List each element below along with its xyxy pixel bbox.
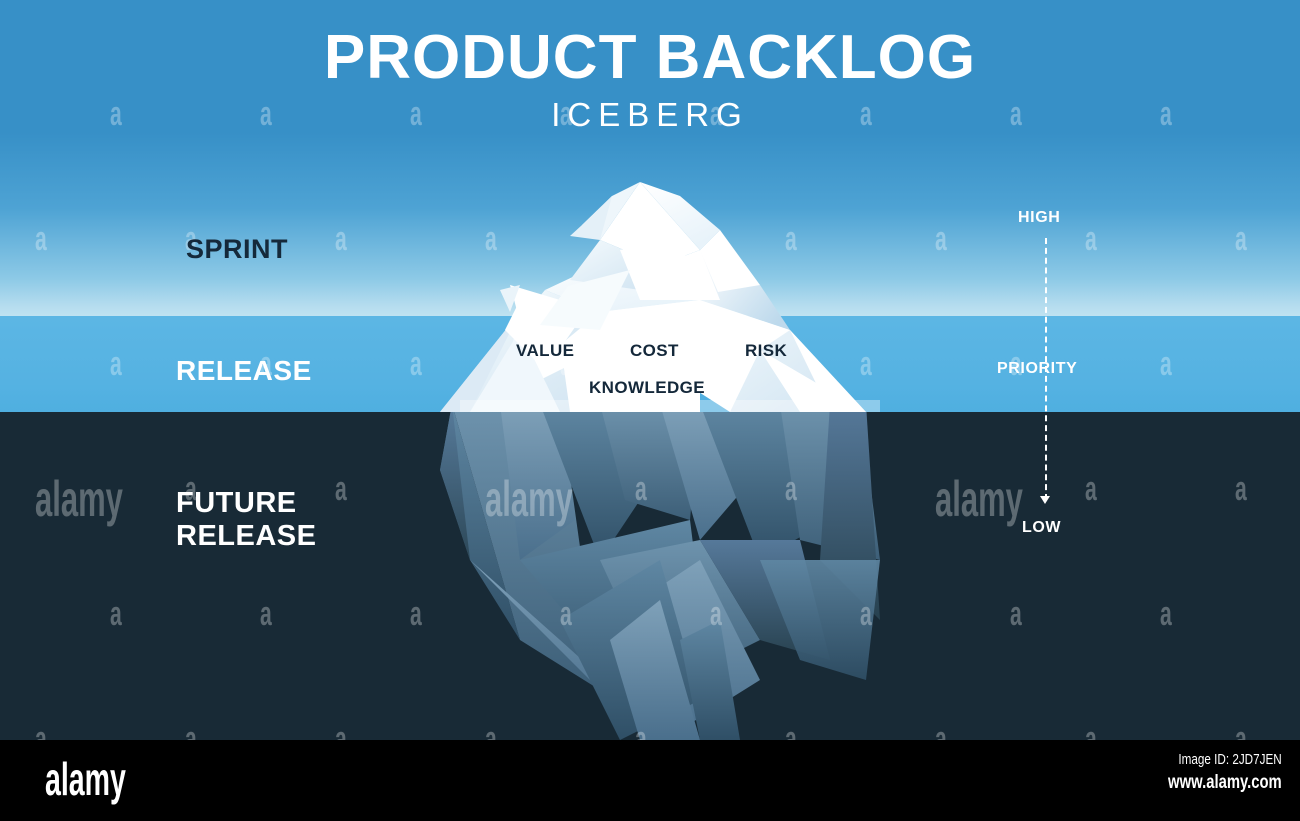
priority-axis-label: PRIORITY	[997, 360, 1077, 378]
footer-background-band	[0, 740, 1300, 821]
iceberg-label-cost: COST	[630, 341, 679, 361]
priority-label-high: HIGH	[1018, 209, 1060, 227]
footer-url: www.alamy.com	[1168, 772, 1282, 794]
priority-label-low: LOW	[1022, 519, 1061, 537]
iceberg-infographic: aaaaaaaaaaaaaaaaaaaaaaaaaaaaaalamyaaalam…	[0, 0, 1300, 821]
iceberg-label-value: VALUE	[516, 341, 574, 361]
deep-water-band	[0, 412, 1300, 740]
priority-arrow-icon	[1040, 496, 1050, 504]
footer-credits: Image ID: 2JD7JEN www.alamy.com	[1136, 751, 1282, 794]
iceberg-label-risk: RISK	[745, 341, 787, 361]
footer-image-id: Image ID: 2JD7JEN	[1168, 751, 1282, 768]
alamy-logo: alamy	[45, 752, 126, 806]
stage-label-future-release: FUTURE RELEASE	[176, 487, 316, 554]
stage-label-sprint: SPRINT	[186, 234, 288, 265]
iceberg-label-knowledge: KNOWLEDGE	[589, 378, 705, 398]
page-subtitle: ICEBERG	[0, 96, 1300, 134]
header: PRODUCT BACKLOG ICEBERG	[0, 26, 1300, 134]
page-title: PRODUCT BACKLOG	[0, 26, 1300, 90]
stage-label-release: RELEASE	[176, 355, 312, 387]
